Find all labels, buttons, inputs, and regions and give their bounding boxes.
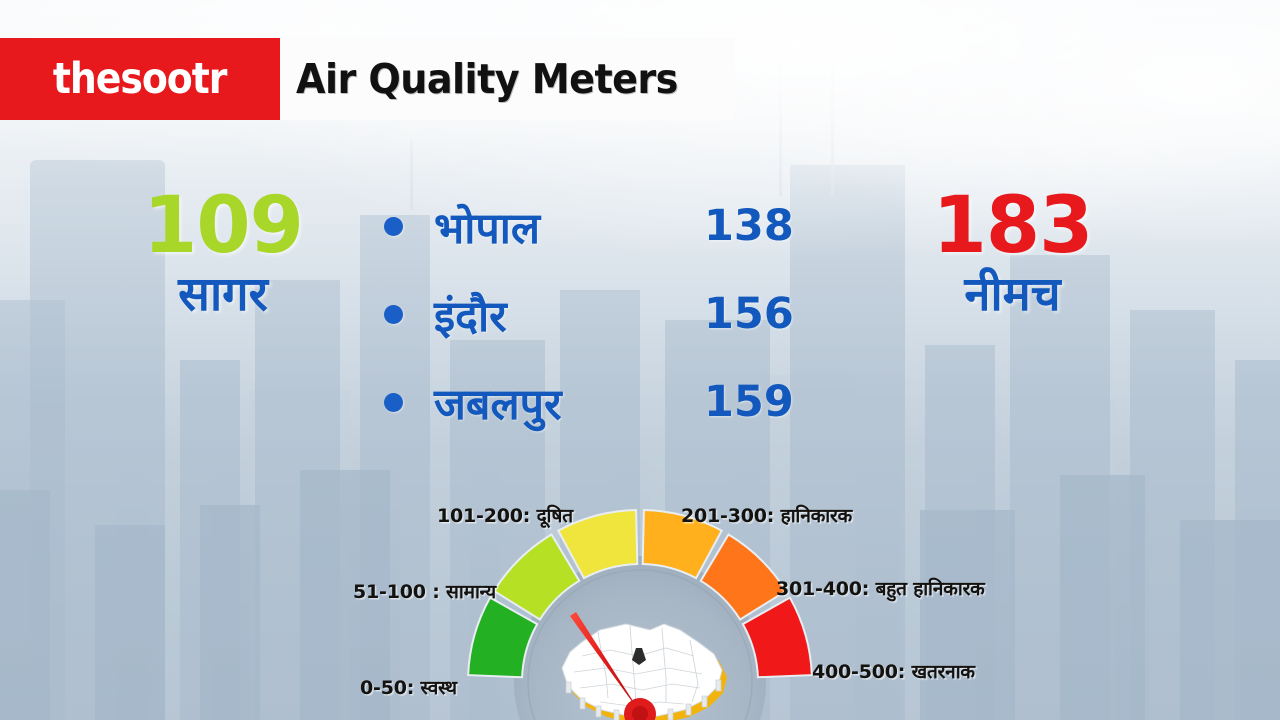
- bullet-icon: [384, 305, 403, 324]
- bullet-icon: [384, 217, 403, 236]
- city-aqi-list: भोपाल 138 इंदौर 156 जबलपुर 159: [384, 182, 804, 446]
- reading-city-neemuch: नीमच: [905, 266, 1120, 325]
- city-name: जबलपुर: [434, 373, 704, 432]
- gauge-svg: [400, 498, 880, 720]
- page-title-box: Air Quality Meters: [280, 38, 735, 120]
- city-aqi-value: 159: [704, 377, 804, 427]
- page-title: Air Quality Meters: [296, 55, 678, 103]
- reading-value-sagar: 109: [118, 188, 328, 264]
- city-name: इंदौर: [434, 285, 704, 344]
- brand-logo-text: thesootr: [53, 54, 227, 104]
- gauge-label-51-100: 51-100 : सामान्य: [353, 578, 496, 604]
- reading-card-neemuch: 183 नीमच: [905, 188, 1120, 325]
- gauge-label-400-500: 400-500: खतरनाक: [812, 658, 975, 684]
- aqi-gauge: [400, 498, 880, 720]
- gauge-label-201-300: 201-300: हानिकारक: [681, 502, 852, 528]
- gauge-label-0-50: 0-50: स्वस्थ: [360, 674, 457, 700]
- city-aqi-value: 156: [704, 289, 804, 339]
- gauge-label-301-400: 301-400: बहुत हानिकारक: [776, 575, 985, 601]
- reading-value-neemuch: 183: [905, 188, 1120, 264]
- list-item[interactable]: भोपाल 138: [384, 182, 804, 270]
- brand-logo-box[interactable]: thesootr: [0, 38, 280, 120]
- reading-city-sagar: सागर: [118, 266, 328, 325]
- bullet-icon: [384, 393, 403, 412]
- city-name: भोपाल: [434, 197, 704, 256]
- gauge-label-101-200: 101-200: दूषित: [437, 502, 573, 528]
- list-item[interactable]: जबलपुर 159: [384, 358, 804, 446]
- header-bar: thesootr Air Quality Meters: [0, 38, 735, 120]
- city-aqi-value: 138: [704, 201, 804, 251]
- list-item[interactable]: इंदौर 156: [384, 270, 804, 358]
- reading-card-sagar: 109 सागर: [118, 188, 328, 325]
